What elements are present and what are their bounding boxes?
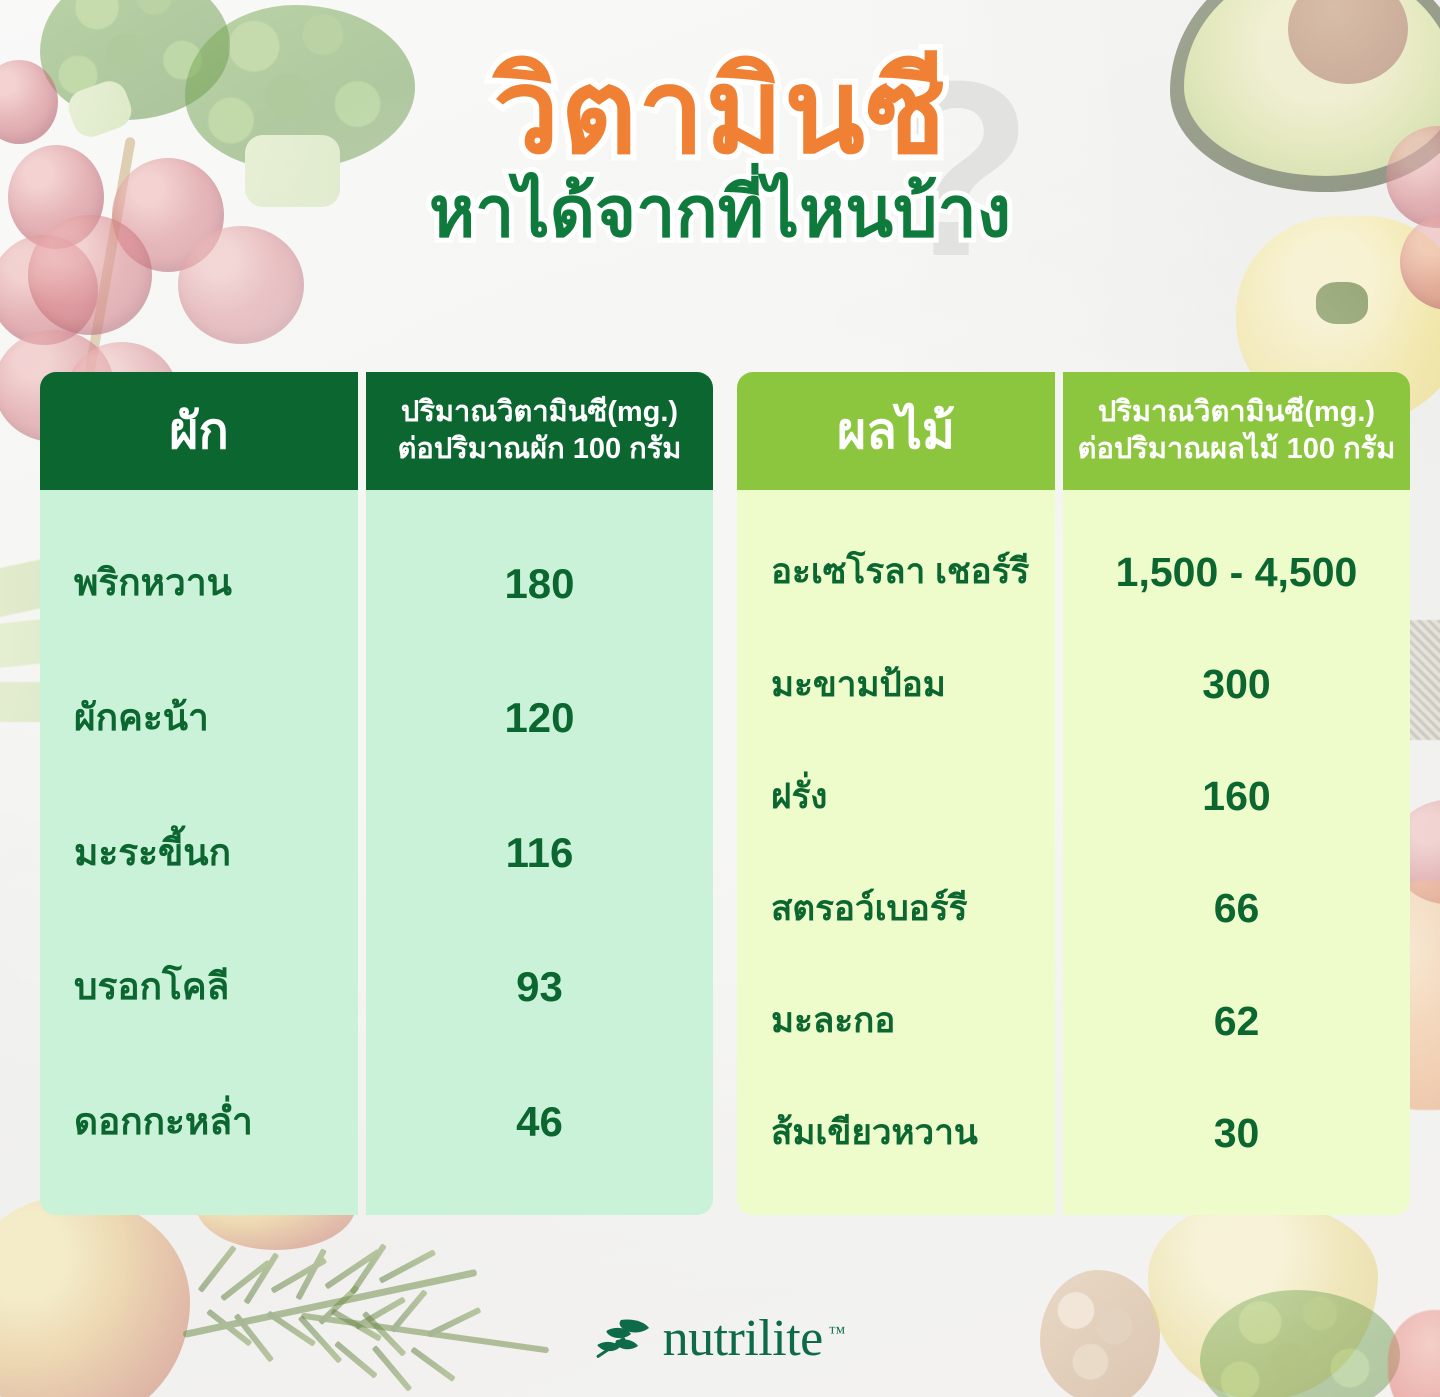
vegetables-category-header: ผัก (40, 372, 358, 490)
table-row: พริกหวาน (74, 561, 358, 605)
page-subtitle: หาได้จากที่ไหนบ้าง (0, 176, 1440, 250)
table-row: ดอกกะหล่ำ (74, 1100, 358, 1144)
page-title: วิตามินซี (0, 52, 1440, 172)
vegetables-amount-header-line1: ปริมาณวิตามินซี(mg.) (398, 394, 682, 431)
table-cell-value: 180 (504, 559, 574, 609)
nutrilite-logo: nutrilite ™ (0, 1313, 1440, 1365)
fruits-table: ผลไม้ ปริมาณวิตามินซี(mg.) ต่อปริมาณผลไม… (737, 372, 1410, 1215)
table-row: มะขามป้อม (771, 664, 1055, 705)
table-row: ส้มเขียวหวาน (771, 1112, 1055, 1153)
fruits-amount-header-line2: ต่อปริมาณผลไม้ 100 กรัม (1078, 431, 1396, 468)
vegetables-name-column: พริกหวาน ผักคะน้า มะระขี้นก บรอกโคลี ดอก… (40, 490, 358, 1215)
table-cell-value: 160 (1202, 772, 1270, 820)
table-cell-value: 300 (1202, 660, 1270, 708)
table-cell-value: 116 (506, 828, 574, 878)
fruits-amount-header-line1: ปริมาณวิตามินซี(mg.) (1078, 394, 1396, 431)
table-row: อะเซโรลา เชอร์รี (771, 551, 1055, 592)
fruits-name-column: อะเซโรลา เชอร์รี มะขามป้อม ฝรั่ง สตรอว์เ… (737, 490, 1055, 1215)
table-cell-value: 62 (1214, 997, 1260, 1045)
nutrilite-wordmark: nutrilite (663, 1313, 823, 1365)
table-row: ผักคะน้า (74, 696, 358, 740)
table-row: ฝรั่ง (771, 776, 1055, 817)
table-cell-value: 46 (516, 1097, 563, 1147)
table-cell-value: 1,500 - 4,500 (1116, 548, 1358, 596)
fruits-category-header: ผลไม้ (737, 372, 1055, 490)
table-row: สตรอว์เบอร์รี (771, 888, 1055, 929)
table-row: บรอกโคลี (74, 965, 358, 1009)
title-block: ? วิตามินซี หาได้จากที่ไหนบ้าง (0, 52, 1440, 250)
table-cell-value: 120 (504, 693, 574, 743)
trademark-symbol: ™ (829, 1323, 846, 1343)
vegetables-value-column: 180 120 116 93 46 (366, 490, 713, 1215)
leaf-icon (595, 1316, 651, 1362)
fruits-value-column: 1,500 - 4,500 300 160 66 62 30 (1063, 490, 1410, 1215)
table-cell-value: 30 (1214, 1109, 1260, 1157)
table-row: มะละกอ (771, 1000, 1055, 1041)
vegetables-table: ผัก ปริมาณวิตามินซี(mg.) ต่อปริมาณผัก 10… (40, 372, 713, 1215)
vegetables-header-row: ผัก ปริมาณวิตามินซี(mg.) ต่อปริมาณผัก 10… (40, 372, 713, 490)
fruits-amount-header: ปริมาณวิตามินซี(mg.) ต่อปริมาณผลไม้ 100 … (1063, 372, 1410, 490)
vegetables-amount-header-line2: ต่อปริมาณผัก 100 กรัม (398, 431, 682, 468)
fruits-body-row: อะเซโรลา เชอร์รี มะขามป้อม ฝรั่ง สตรอว์เ… (737, 490, 1410, 1215)
vegetables-amount-header: ปริมาณวิตามินซี(mg.) ต่อปริมาณผัก 100 กร… (366, 372, 713, 490)
table-row: มะระขี้นก (74, 831, 358, 875)
vegetables-body-row: พริกหวาน ผักคะน้า มะระขี้นก บรอกโคลี ดอก… (40, 490, 713, 1215)
table-cell-value: 93 (516, 962, 563, 1012)
infographic-page: ? วิตามินซี หาได้จากที่ไหนบ้าง ผัก ปริมา… (0, 0, 1440, 1397)
tables-container: ผัก ปริมาณวิตามินซี(mg.) ต่อปริมาณผัก 10… (40, 372, 1410, 1215)
table-cell-value: 66 (1214, 884, 1260, 932)
fruits-header-row: ผลไม้ ปริมาณวิตามินซี(mg.) ต่อปริมาณผลไม… (737, 372, 1410, 490)
